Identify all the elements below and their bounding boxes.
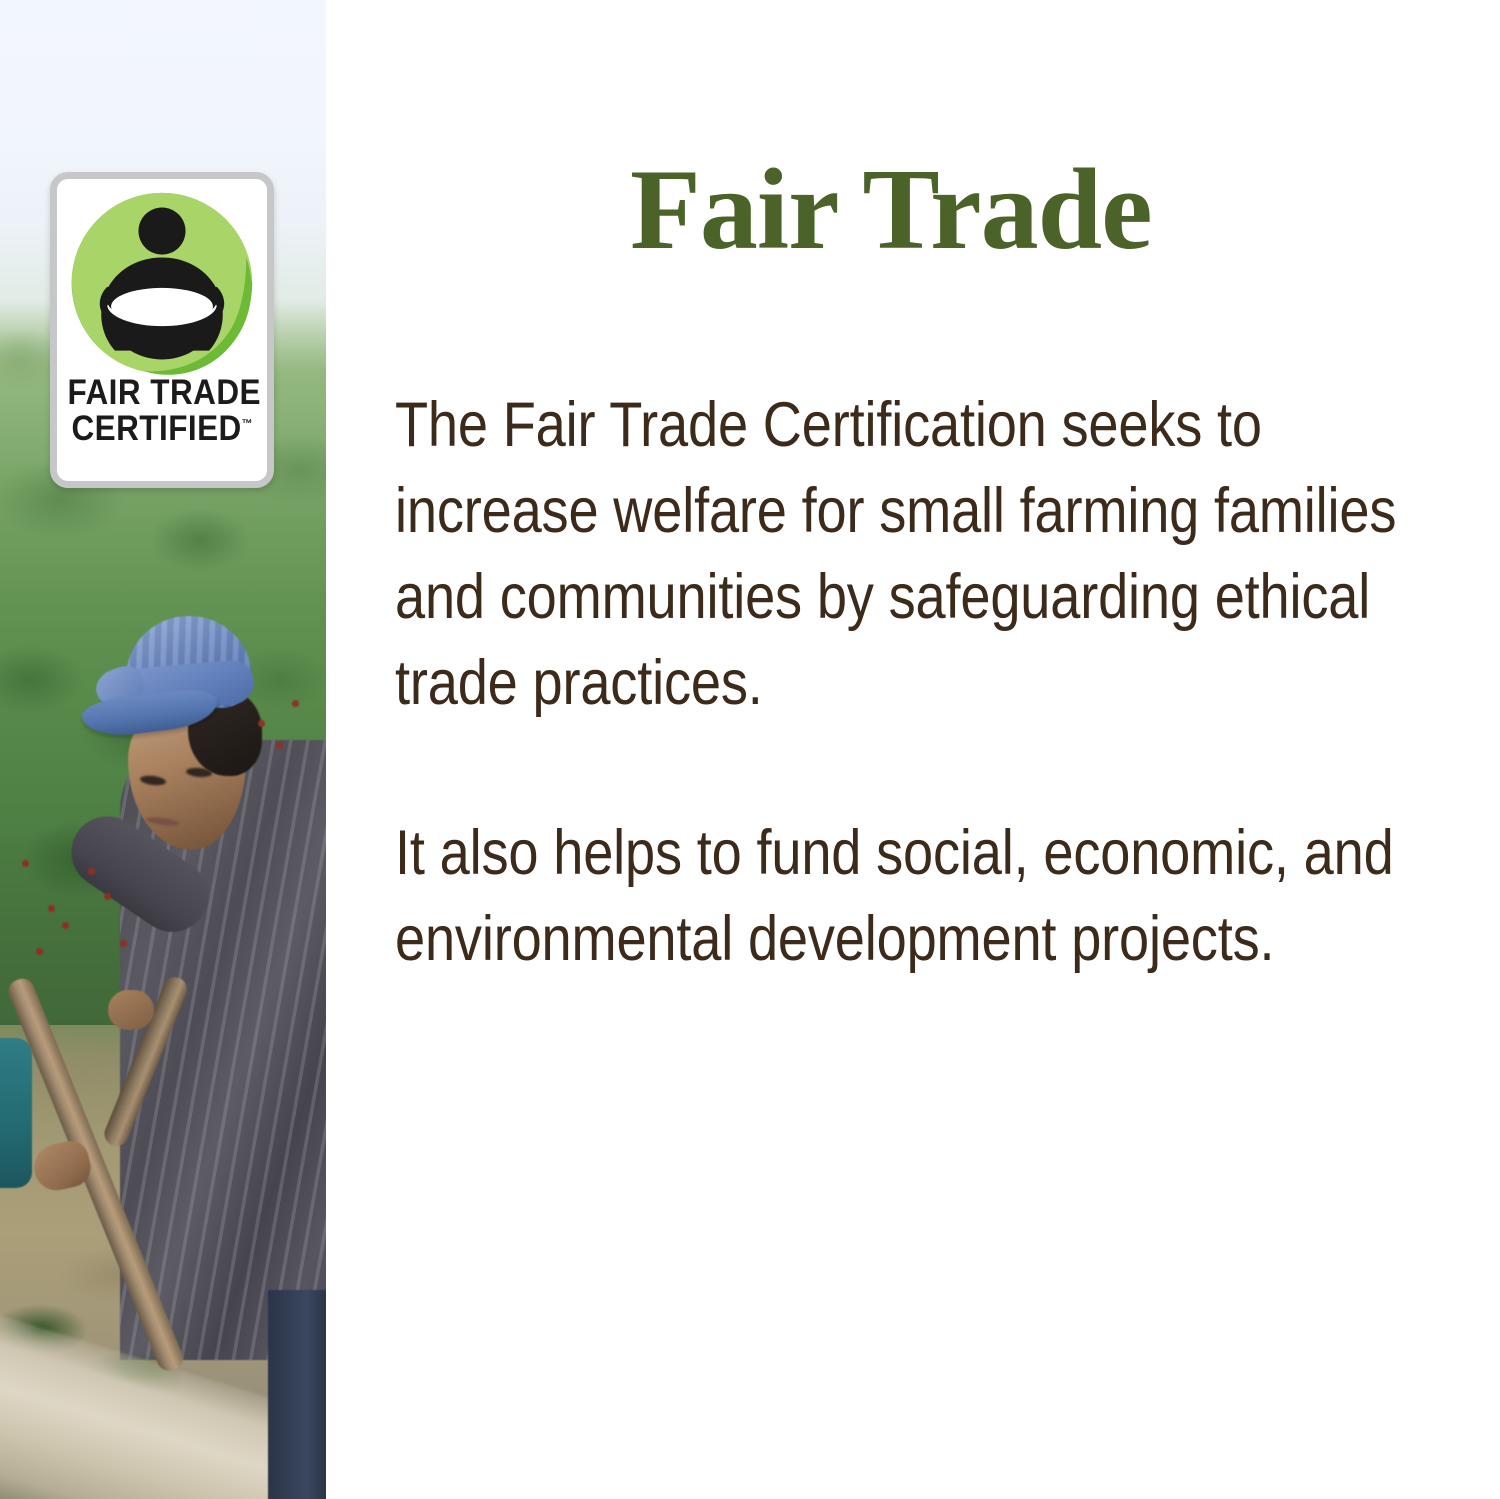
badge-wordmark: FAIR TRADE CERTIFIED™ bbox=[57, 375, 267, 446]
photo-coffee-cherry bbox=[48, 905, 55, 912]
body-copy: The Fair Trade Certification seeks to in… bbox=[395, 382, 1435, 982]
photo-farmer-trousers bbox=[268, 1290, 326, 1499]
photo-farmer-hand-upper bbox=[108, 990, 154, 1030]
photo-coffee-cherry bbox=[104, 893, 111, 900]
infographic-page: FAIR TRADE CERTIFIED™ Fair Trade The Fai… bbox=[0, 0, 1500, 1499]
badge-trademark-symbol: ™ bbox=[242, 416, 253, 430]
photo-coffee-cherry bbox=[258, 720, 265, 727]
photo-coffee-cherry bbox=[292, 700, 299, 707]
photo-coffee-cherry bbox=[22, 860, 29, 867]
photo-coffee-cherry bbox=[36, 948, 43, 955]
badge-line-fair-trade: FAIR TRADE bbox=[68, 375, 257, 411]
photo-coffee-cherry bbox=[62, 922, 69, 929]
photo-second-worker-sleeve bbox=[0, 1038, 32, 1188]
page-title: Fair Trade bbox=[630, 152, 1152, 268]
fair-trade-certified-badge: FAIR TRADE CERTIFIED™ bbox=[50, 172, 274, 488]
content-panel: Fair Trade The Fair Trade Certification … bbox=[326, 0, 1500, 1499]
photo-coffee-cherry bbox=[276, 742, 283, 749]
photo-coffee-cherry bbox=[120, 940, 127, 947]
paragraph-development-projects: It also helps to fund social, economic, … bbox=[395, 810, 1427, 982]
badge-line-certified: CERTIFIED™ bbox=[68, 411, 257, 447]
badge-certified-text: CERTIFIED bbox=[71, 409, 241, 448]
fair-trade-logo-mark bbox=[57, 185, 267, 391]
paragraph-certification-purpose: The Fair Trade Certification seeks to in… bbox=[395, 382, 1427, 726]
coffee-farmer-photo: FAIR TRADE CERTIFIED™ bbox=[0, 0, 326, 1499]
photo-coffee-cherry bbox=[88, 868, 95, 875]
fair-trade-person-bowl-icon bbox=[64, 185, 260, 381]
